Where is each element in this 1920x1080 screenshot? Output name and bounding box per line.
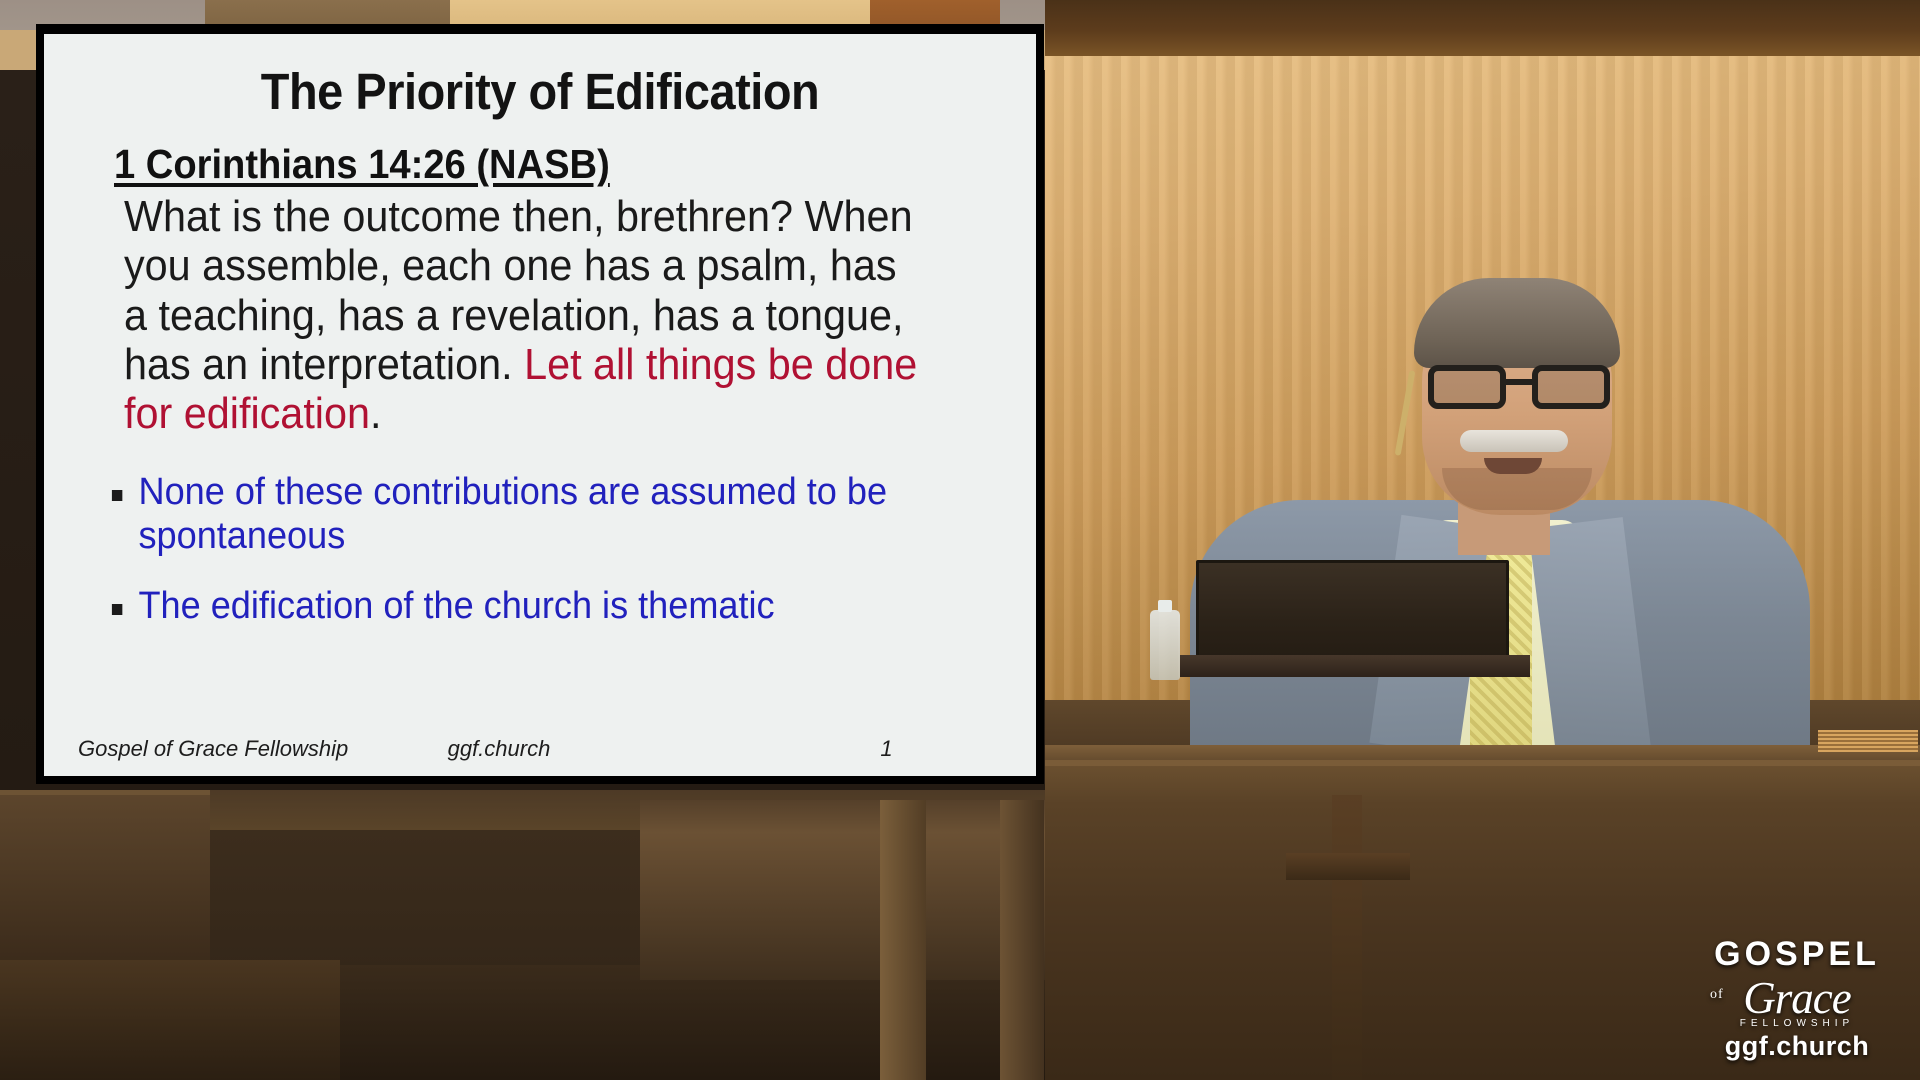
speaker-mouth [1484, 458, 1542, 474]
channel-logo-watermark: GOSPEL of Grace FELLOWSHIP ggf.church [1702, 937, 1892, 1062]
pew [0, 960, 340, 1080]
wood-post [880, 800, 926, 1080]
logo-grace-text: Grace [1743, 973, 1850, 1023]
footer-website: ggf.church [448, 736, 771, 762]
speaker-figure [1190, 270, 1830, 790]
speaker-chin [1442, 468, 1592, 510]
speaker-mustache [1460, 430, 1568, 452]
cross-horizontal [1286, 853, 1410, 880]
scripture-verse: What is the outcome then, brethren? When… [124, 192, 955, 438]
list-item: None of these contributions are assumed … [110, 470, 963, 558]
pulpit-monitor [1196, 560, 1509, 665]
logo-url-text: ggf.church [1702, 1031, 1892, 1062]
slide-bullet-list: None of these contributions are assumed … [110, 470, 1008, 628]
book [1818, 730, 1918, 752]
livestream-stage: GOSPEL of Grace FELLOWSHIP ggf.church Th… [0, 0, 1920, 1080]
speaker-glasses [1428, 365, 1610, 411]
cross-icon [1280, 795, 1420, 1080]
wood-post [1000, 800, 1044, 1080]
speaker-hair [1414, 278, 1620, 368]
list-item: The edification of the church is themati… [110, 584, 963, 628]
footer-organization: Gospel of Grace Fellowship [78, 736, 448, 762]
glasses-lens-right [1532, 365, 1610, 409]
scripture-reference: 1 Corinthians 14:26 (NASB) [114, 141, 945, 188]
footer-page-number: 1 [771, 736, 1002, 762]
glasses-lens-left [1428, 365, 1506, 409]
curtain-top-trim [1045, 0, 1920, 56]
logo-grace-row: of Grace FELLOWSHIP [1702, 971, 1892, 1025]
speaker-microphone [1395, 370, 1416, 456]
logo-fellowship-text: FELLOWSHIP [1702, 1018, 1892, 1029]
glasses-bridge [1506, 379, 1532, 385]
logo-gospel-text: GOSPEL [1702, 937, 1892, 971]
bullet-text: None of these contributions are assumed … [139, 471, 888, 557]
pew [0, 790, 210, 970]
platform-rail [640, 800, 1045, 980]
square-bullet-icon [112, 490, 122, 501]
slide-title: The Priority of Edification [109, 62, 970, 121]
slide-frame: The Priority of Edification 1 Corinthian… [36, 24, 1044, 784]
cross-vertical [1332, 795, 1362, 1080]
water-bottle [1150, 610, 1180, 680]
bullet-text: The edification of the church is themati… [139, 585, 775, 627]
square-bullet-icon [112, 604, 122, 615]
verse-part-2: . [370, 389, 382, 438]
presentation-slide: The Priority of Edification 1 Corinthian… [44, 34, 1036, 776]
pulpit-monitor-base [1180, 655, 1530, 677]
slide-footer: Gospel of Grace Fellowship ggf.church 1 [44, 736, 1036, 762]
logo-of-text: of [1710, 987, 1724, 1003]
